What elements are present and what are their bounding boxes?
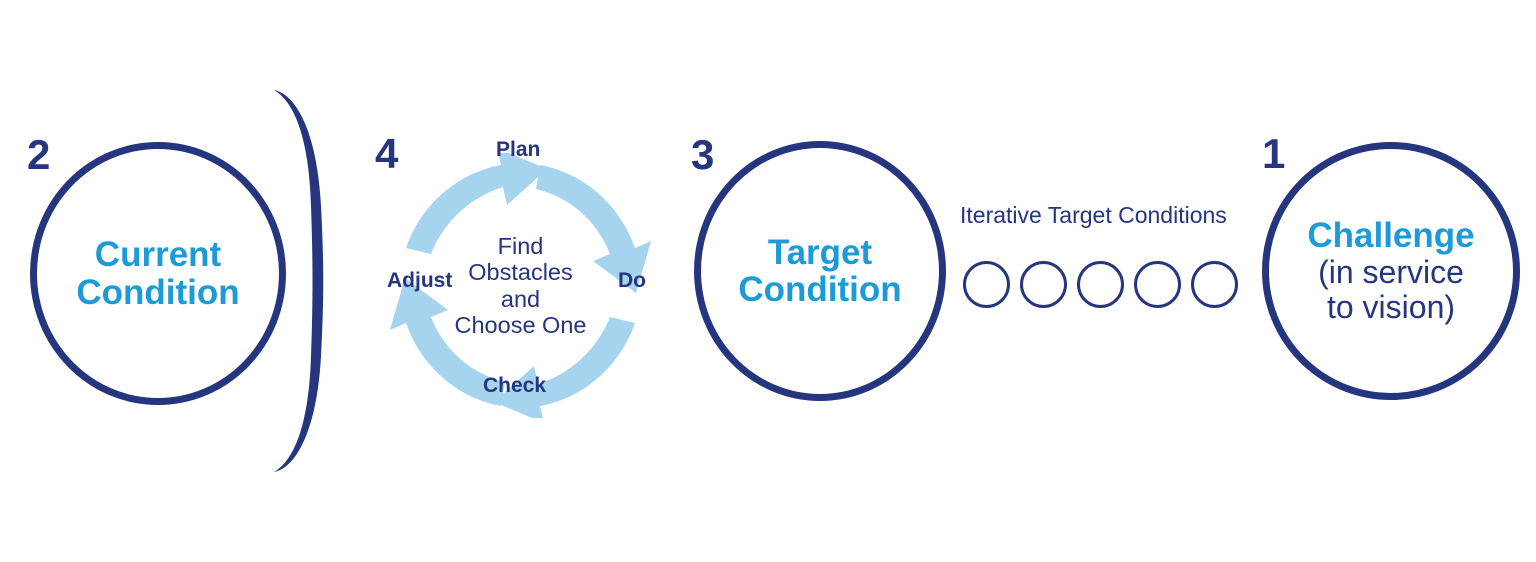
cycle-center-line3: and	[431, 286, 611, 313]
cycle-center-text: Find Obstacles and Choose One	[431, 232, 611, 338]
step-number-3: 3	[691, 134, 714, 176]
iterative-dots-group	[963, 261, 1238, 308]
iterative-dot	[963, 261, 1010, 308]
iterative-dot	[1020, 261, 1067, 308]
bracket-icon	[262, 86, 342, 476]
cycle-label-plan: Plan	[496, 139, 540, 160]
cycle-center-line4: Choose One	[431, 312, 611, 339]
bracket-divider	[262, 86, 342, 476]
iterative-dot	[1077, 261, 1124, 308]
cycle-center-line1: Find	[431, 232, 611, 259]
iterative-target-conditions-label: Iterative Target Conditions	[960, 204, 1227, 227]
cycle-label-do: Do	[618, 270, 646, 291]
challenge-circle: Challenge (in service to vision)	[1262, 142, 1520, 400]
diagram-canvas: 2 Current Condition 4 Plan D	[0, 0, 1536, 562]
target-condition-line2: Condition	[738, 270, 901, 309]
challenge-label: Challenge (in service to vision)	[1307, 217, 1474, 325]
target-condition-line1: Target	[768, 233, 872, 272]
current-condition-circle: Current Condition	[30, 142, 286, 405]
challenge-subtitle-line1: (in service	[1307, 255, 1474, 290]
step-number-2: 2	[27, 134, 50, 176]
iterative-dot	[1191, 261, 1238, 308]
current-condition-label: Current Condition	[76, 236, 239, 311]
step-number-1: 1	[1262, 133, 1285, 175]
experiment-cycle: Plan Do Check Adjust Find Obstacles and …	[388, 153, 653, 418]
challenge-title: Challenge	[1307, 216, 1474, 255]
iterative-dot	[1134, 261, 1181, 308]
current-condition-line2: Condition	[76, 273, 239, 312]
challenge-subtitle-line2: to vision)	[1307, 290, 1474, 325]
target-condition-label: Target Condition	[738, 234, 901, 309]
cycle-label-check: Check	[483, 375, 546, 396]
target-condition-circle: Target Condition	[694, 141, 946, 401]
current-condition-line1: Current	[95, 235, 221, 274]
cycle-center-line2: Obstacles	[431, 259, 611, 286]
